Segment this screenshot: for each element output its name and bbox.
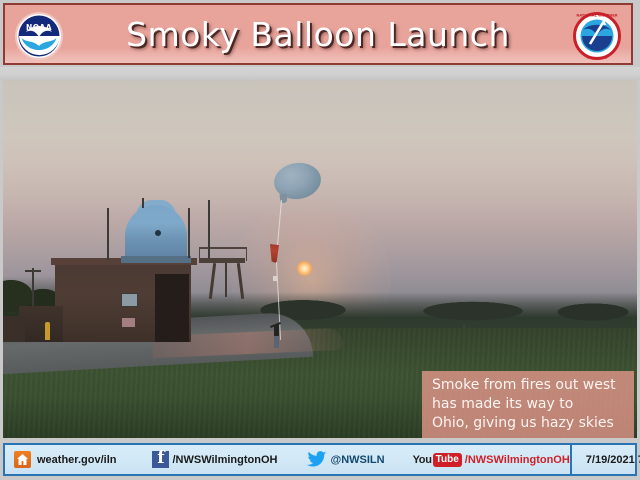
- building-annex-left: [3, 316, 25, 342]
- facebook-label: /NWSWilmingtonOH: [172, 454, 277, 466]
- nws-logo: NATIONAL WEATHER ★ ★ ★ ★ ★: [571, 10, 623, 62]
- distant-pole: [463, 324, 465, 338]
- radiosonde-instrument: [273, 276, 277, 281]
- building-annex: [19, 306, 63, 342]
- svg-text:★ ★ ★ ★ ★: ★ ★ ★ ★ ★: [586, 56, 607, 60]
- youtube-label: /NWSWilmingtonOH: [465, 454, 570, 466]
- facebook-icon: [152, 451, 169, 468]
- header-banner: NOAA Smoky Balloon Launch NATIONAL WEATH…: [3, 3, 633, 65]
- tower-leg: [225, 263, 227, 297]
- caption-line-2: has made its way to: [432, 395, 626, 414]
- antenna-mast: [142, 198, 144, 208]
- hazy-sun: [297, 261, 312, 276]
- noaa-logo: NOAA: [13, 10, 65, 62]
- website-label: weather.gov/iln: [37, 454, 116, 466]
- radome-base: [121, 256, 191, 263]
- footer-divider: [570, 445, 572, 474]
- caption-line-3: Ohio, giving us hazy skies: [432, 414, 626, 433]
- twitter-bird-icon: [307, 451, 327, 468]
- caption-line-1: Smoke from fires out west: [432, 376, 626, 395]
- home-icon: [14, 451, 31, 468]
- antenna-mast: [107, 208, 109, 260]
- twitter-link[interactable]: @NWSILN: [307, 445, 384, 474]
- svg-text:NOAA: NOAA: [26, 23, 52, 32]
- facebook-link[interactable]: /NWSWilmingtonOH: [152, 445, 277, 474]
- page-title: Smoky Balloon Launch: [126, 15, 510, 54]
- building-wall-panel: [121, 293, 138, 307]
- photo-caption: Smoke from fires out west has made its w…: [422, 371, 634, 438]
- utility-pole: [32, 268, 34, 306]
- website-link[interactable]: weather.gov/iln: [5, 445, 116, 474]
- svg-text:NATIONAL WEATHER: NATIONAL WEATHER: [576, 14, 618, 18]
- youtube-icon: You Tube: [413, 453, 462, 467]
- youtube-brand-you: You: [413, 454, 432, 466]
- operator-legs: [274, 336, 279, 348]
- youtube-link[interactable]: You Tube /NWSWilmingtonOH: [413, 445, 570, 474]
- fire-hydrant: [45, 322, 50, 340]
- weather-graphic: NOAA Smoky Balloon Launch NATIONAL WEATH…: [0, 0, 640, 480]
- antenna-mast: [208, 200, 210, 258]
- twitter-label: @NWSILN: [330, 454, 384, 466]
- antenna-mast: [188, 208, 190, 258]
- utility-pole-crossarm: [25, 270, 41, 272]
- building-wall-sign: [122, 318, 135, 327]
- building-bay-door: [155, 274, 189, 342]
- youtube-brand-tube: Tube: [433, 453, 462, 467]
- timestamp: 7/19/2021 7:37 AM: [586, 454, 640, 466]
- header-underbar: [0, 67, 640, 80]
- photo-weather-balloon-launch: Smoke from fires out west has made its w…: [3, 80, 637, 438]
- social-footer-bar: weather.gov/iln /NWSWilmingtonOH @NWSILN…: [3, 443, 637, 476]
- radome-vent: [155, 230, 161, 236]
